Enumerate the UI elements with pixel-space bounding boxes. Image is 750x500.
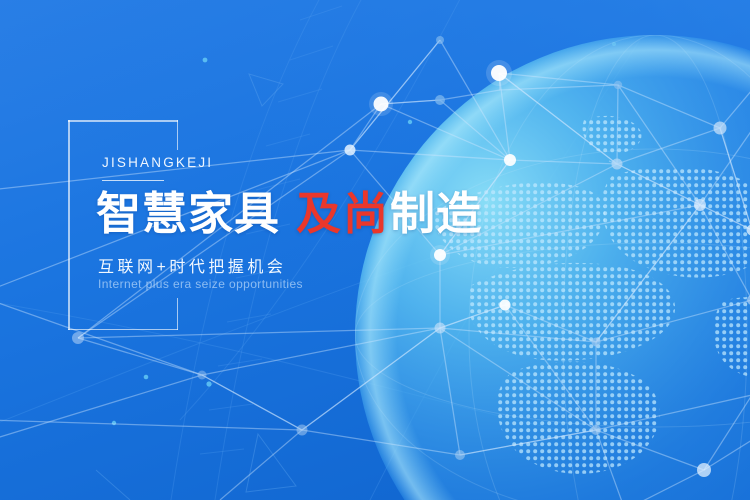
headline-part-one: 智慧家具 xyxy=(96,189,280,239)
frame-right-top-line xyxy=(177,120,179,150)
subtitle-chinese: 互联网+时代把握机会 xyxy=(98,253,286,277)
headline-text-block: JISHANGKEJI 智慧家具及尚制造 互联网+时代把握机会 Internet… xyxy=(68,110,468,335)
eyebrow-underline-rule xyxy=(102,180,164,181)
headline-brand-accent: 及尚 xyxy=(296,189,390,239)
promo-banner: JISHANGKEJI 智慧家具及尚制造 互联网+时代把握机会 Internet… xyxy=(0,0,750,500)
frame-top-line xyxy=(68,120,178,122)
brand-eyebrow: JISHANGKEJI xyxy=(102,155,213,170)
page-title: 智慧家具及尚制造 xyxy=(96,192,482,237)
headline-part-two: 制造 xyxy=(390,189,482,239)
frame-left-line xyxy=(68,120,70,330)
subtitle-english: Internet plus era seize opportunities xyxy=(98,277,303,291)
frame-right-bottom-line xyxy=(177,298,179,330)
frame-bottom-line xyxy=(68,329,178,331)
